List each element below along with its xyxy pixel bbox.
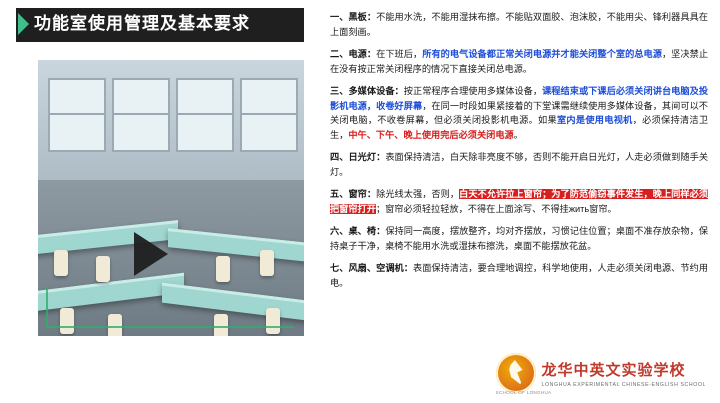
- rule-segment: 所有的电气设备都正常关闭电源并才能关闭整个室的总电源: [422, 49, 662, 59]
- stool: [214, 314, 228, 336]
- title-underline: [16, 40, 304, 42]
- rule-paragraph: 四、日光灯：表面保持清洁，白天除非亮度不够，否则不能开启日光灯，人走必须做到随手…: [330, 150, 708, 180]
- rule-lead: 一、黑板：: [330, 12, 376, 22]
- photo-wall: [38, 60, 304, 180]
- photo-accent-line: [46, 288, 48, 328]
- rule-paragraph: 二、电源：在下班后，所有的电气设备都正常关闭电源并才能关闭整个室的总电源，坚决禁…: [330, 47, 708, 77]
- rule-segment: 在下班后，: [376, 49, 422, 59]
- school-name-cn: 龙华中英文实验学校: [542, 359, 706, 380]
- rule-segment: 保持同一高度，摆放整齐，均对齐摆放，习惯记住位置；桌面不准存放杂物，保持桌子干净…: [330, 226, 708, 251]
- photo-window: [48, 78, 106, 152]
- school-name-sub: SCHOOL OF LONGHUA: [496, 390, 552, 395]
- rule-segment: 表面保持清洁，白天除非亮度不够，否则不能开启日光灯，人走必须做到随手关灯。: [330, 152, 708, 177]
- rule-paragraph: 六、桌、椅：保持同一高度，摆放整齐，均对齐摆放，习惯记住位置；桌面不准存放杂物，…: [330, 224, 708, 254]
- rule-segment: 中午、下午、晚上使用完后必须关闭电源: [348, 130, 513, 140]
- stool: [54, 250, 68, 276]
- rule-lead: 七、风扇、空调机：: [330, 263, 413, 273]
- photo-accent-line: [46, 326, 294, 328]
- rule-lead: 六、桌、椅：: [330, 226, 385, 236]
- play-triangle-icon: [18, 13, 29, 35]
- stool: [108, 314, 122, 336]
- photo-window: [112, 78, 170, 152]
- rule-paragraph: 三、多媒体设备：按正常程序合理使用多媒体设备，课程结束或下课后必须关闭讲台电脑及…: [330, 84, 708, 144]
- slide-title-block: 功能室使用管理及基本要求: [16, 8, 304, 42]
- rule-lead: 三、多媒体设备：: [330, 86, 404, 96]
- page-title: 功能室使用管理及基本要求: [34, 8, 250, 40]
- rule-paragraph: 五、窗帘：除光线太强，否则，白天不允许拉上窗帘；为了防范偷窃事件发生，晚上同样必…: [330, 187, 708, 217]
- school-name-en: LONGHUA EXPERIMENTAL CHINESE-ENGLISH SCH…: [542, 382, 706, 388]
- rule-segment: 室内是使用电视机: [557, 115, 633, 125]
- rule-segment: ；窗帘必须轻拉轻放，不得在上面涂写、不得挂жить窗帘。: [376, 204, 617, 214]
- stool: [260, 250, 274, 276]
- flame-logo-icon: [496, 353, 536, 393]
- rule-paragraph: 七、风扇、空调机：表面保持清洁，要合理地调控，科学地使用，人走必须关闭电源、节约…: [330, 261, 708, 291]
- photo-window: [176, 78, 234, 152]
- rule-segment: 除光线太强，否则，: [376, 189, 459, 199]
- stool: [216, 256, 230, 282]
- rule-lead: 五、窗帘：: [330, 189, 376, 199]
- logo-text-block: 龙华中英文实验学校 LONGHUA EXPERIMENTAL CHINESE-E…: [542, 359, 706, 388]
- rules-text-column: 一、黑板：不能用水洗，不能用湿抹布擦。不能贴双面胶、泡沫胶，不能用尖、锋利器具具…: [330, 10, 708, 298]
- photo-window: [240, 78, 298, 152]
- rule-segment: 不能用水洗，不能用湿抹布擦。不能贴双面胶、泡沫胶，不能用尖、锋利器具具在上面刻画…: [330, 12, 708, 37]
- rule-segment: 。: [514, 130, 523, 140]
- stool: [60, 308, 74, 334]
- rule-lead: 四、日光灯：: [330, 152, 385, 162]
- classroom-photo[interactable]: [38, 60, 304, 336]
- play-button-icon[interactable]: [134, 232, 168, 276]
- stool: [266, 308, 280, 334]
- school-logo: 龙华中英文实验学校 LONGHUA EXPERIMENTAL CHINESE-E…: [496, 351, 706, 395]
- rule-paragraph: 一、黑板：不能用水洗，不能用湿抹布擦。不能贴双面胶、泡沫胶，不能用尖、锋利器具具…: [330, 10, 708, 40]
- rule-segment: 按正常程序合理使用多媒体设备，: [404, 86, 542, 96]
- rule-lead: 二、电源：: [330, 49, 376, 59]
- stool: [96, 256, 110, 282]
